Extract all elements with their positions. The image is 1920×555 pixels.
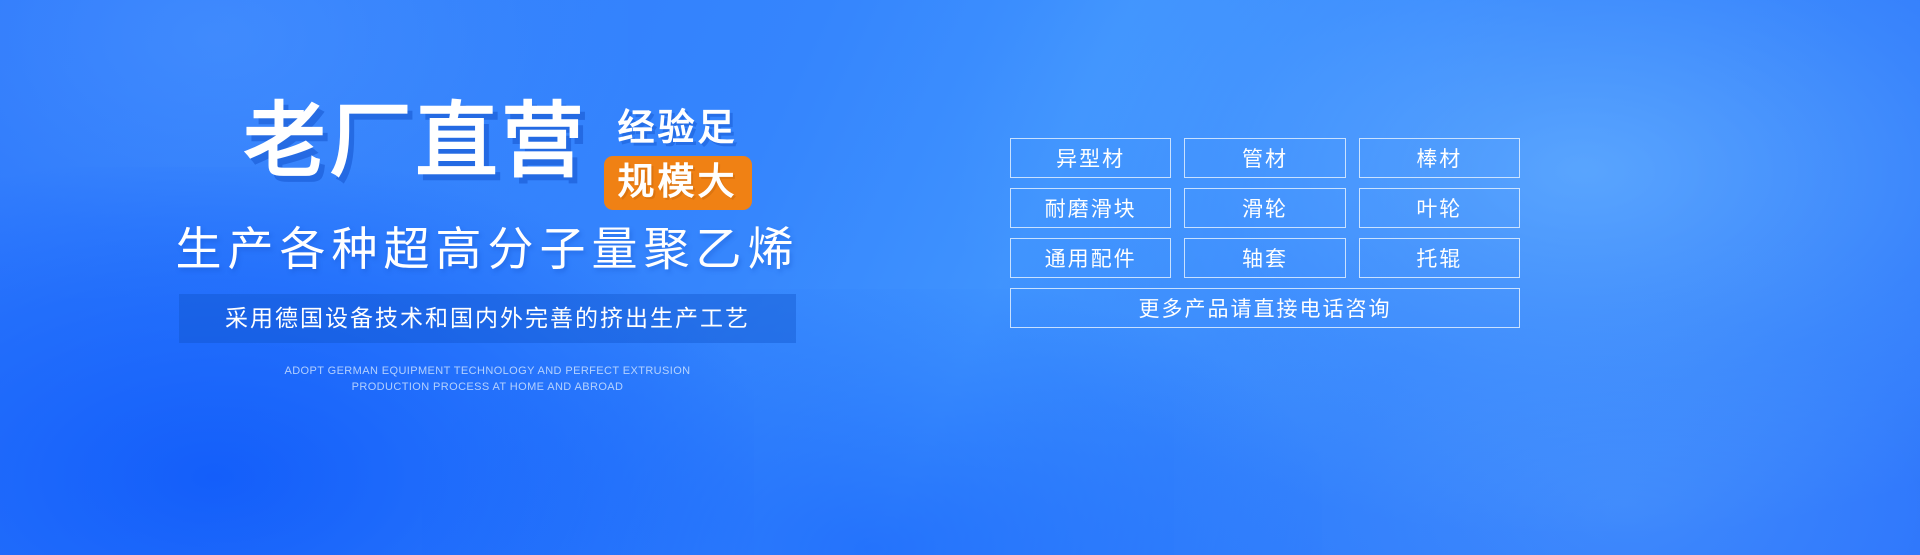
headline-row: 老厂直营 经验足 规模大 xyxy=(0,96,975,210)
english-subtitle-line-2: PRODUCTION PROCESS AT HOME AND ABROAD xyxy=(0,379,975,395)
product-button-rod[interactable]: 棒材 xyxy=(1359,138,1520,178)
product-button-profiles[interactable]: 异型材 xyxy=(1010,138,1171,178)
product-button-wear-slider[interactable]: 耐磨滑块 xyxy=(1010,188,1171,228)
product-button-pipe[interactable]: 管材 xyxy=(1184,138,1345,178)
product-button-idler-roller[interactable]: 托辊 xyxy=(1359,238,1520,278)
english-subtitle-line-1: ADOPT GERMAN EQUIPMENT TECHNOLOGY AND PE… xyxy=(0,363,975,379)
product-button-general-parts[interactable]: 通用配件 xyxy=(1010,238,1171,278)
product-row: 异型材 管材 棒材 xyxy=(1010,138,1520,178)
product-button-pulley[interactable]: 滑轮 xyxy=(1184,188,1345,228)
english-subtitle: ADOPT GERMAN EQUIPMENT TECHNOLOGY AND PE… xyxy=(0,363,975,395)
promo-banner: 老厂直营 经验足 规模大 生产各种超高分子量聚乙烯 采用德国设备技术和国内外完善… xyxy=(0,0,1920,555)
product-row: 耐磨滑块 滑轮 叶轮 xyxy=(1010,188,1520,228)
product-category-panel: 异型材 管材 棒材 耐磨滑块 滑轮 叶轮 通用配件 轴套 托辊 更多产品请直接电… xyxy=(1010,138,1520,328)
product-row: 通用配件 轴套 托辊 xyxy=(1010,238,1520,278)
subheadline: 生产各种超高分子量聚乙烯 xyxy=(0,220,975,278)
product-button-impeller[interactable]: 叶轮 xyxy=(1359,188,1520,228)
contact-cta-button[interactable]: 更多产品请直接电话咨询 xyxy=(1010,288,1520,328)
headline-block: 老厂直营 经验足 规模大 生产各种超高分子量聚乙烯 采用德国设备技术和国内外完善… xyxy=(0,96,975,395)
product-button-bushing[interactable]: 轴套 xyxy=(1184,238,1345,278)
badge-experience: 经验足 xyxy=(604,106,752,150)
badge-scale: 规模大 xyxy=(604,156,752,210)
page-title: 老厂直营 xyxy=(243,96,587,188)
tagline-bar: 采用德国设备技术和国内外完善的挤出生产工艺 xyxy=(179,294,796,343)
headline-badge-group: 经验足 规模大 xyxy=(604,96,752,210)
